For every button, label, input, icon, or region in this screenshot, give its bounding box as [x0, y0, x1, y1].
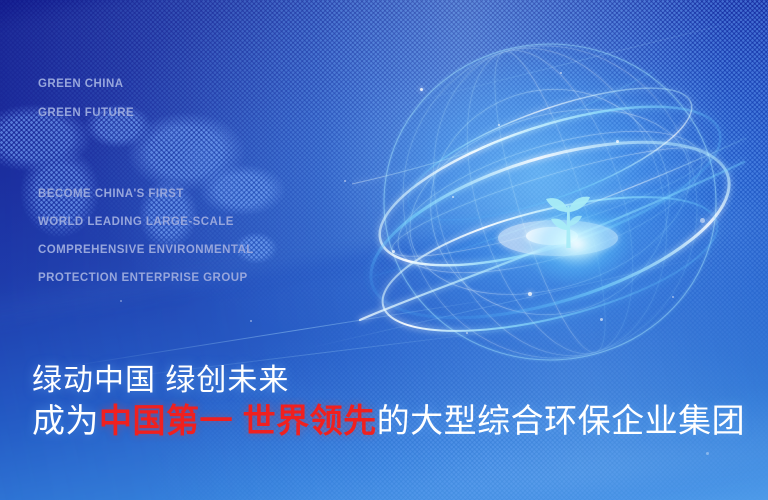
globe-outer-glow — [292, 0, 768, 430]
particle — [466, 332, 468, 334]
tagline-line-1: GREEN CHINA — [38, 70, 134, 99]
vision-line-3: COMPREHENSIVE ENVIRONMENTAL — [38, 236, 254, 264]
particle — [700, 218, 705, 223]
vision-line-4: PROTECTION ENTERPRISE GROUP — [38, 264, 254, 292]
particle — [344, 180, 346, 182]
english-tagline-block: GREEN CHINA GREEN FUTURE — [38, 70, 134, 128]
sprout-seedling-icon — [537, 186, 599, 254]
light-ray-3 — [305, 252, 724, 350]
particle — [528, 292, 532, 296]
globe-wireframe-svg — [352, 34, 748, 370]
headline-suffix: 的大型综合环保企业集团 — [377, 402, 746, 439]
halftone-dot-texture-bottom — [0, 0, 768, 500]
globe-core-glow — [497, 184, 657, 304]
english-vision-block: BECOME CHINA'S FIRST WORLD LEADING LARGE… — [38, 180, 254, 292]
hero-banner: GREEN CHINA GREEN FUTURE BECOME CHINA'S … — [0, 0, 768, 500]
halftone-world-map — [0, 96, 320, 326]
particle — [452, 196, 454, 198]
headline-prefix: 成为 — [32, 402, 99, 439]
particle — [706, 452, 709, 455]
particle — [392, 250, 395, 253]
globe-graphic — [352, 34, 748, 370]
particle — [672, 296, 674, 298]
tagline-line-2: GREEN FUTURE — [38, 99, 134, 128]
chinese-headline-block: 绿动中国 绿创未来 成为中国第一 世界领先的大型综合环保企业集团 — [32, 362, 745, 442]
light-ray-4 — [386, 12, 768, 110]
halftone-dot-texture-topright — [0, 0, 768, 500]
headline-line-1: 绿动中国 绿创未来 — [32, 362, 745, 400]
particle — [420, 88, 423, 91]
vision-line-2: WORLD LEADING LARGE-SCALE — [38, 208, 254, 236]
light-sweep-lower — [0, 164, 768, 500]
light-ray-2 — [112, 326, 539, 379]
particle — [616, 140, 619, 143]
particle — [120, 300, 122, 302]
particle — [600, 318, 603, 321]
light-ray-1 — [63, 293, 527, 368]
particle — [250, 320, 252, 322]
vision-line-1: BECOME CHINA'S FIRST — [38, 180, 254, 208]
light-sweep-upper — [0, 0, 768, 342]
particle — [498, 124, 500, 126]
headline-line-2: 成为中国第一 世界领先的大型综合环保企业集团 — [32, 400, 745, 442]
particle — [560, 72, 562, 74]
headline-highlight: 中国第一 世界领先 — [99, 402, 377, 439]
